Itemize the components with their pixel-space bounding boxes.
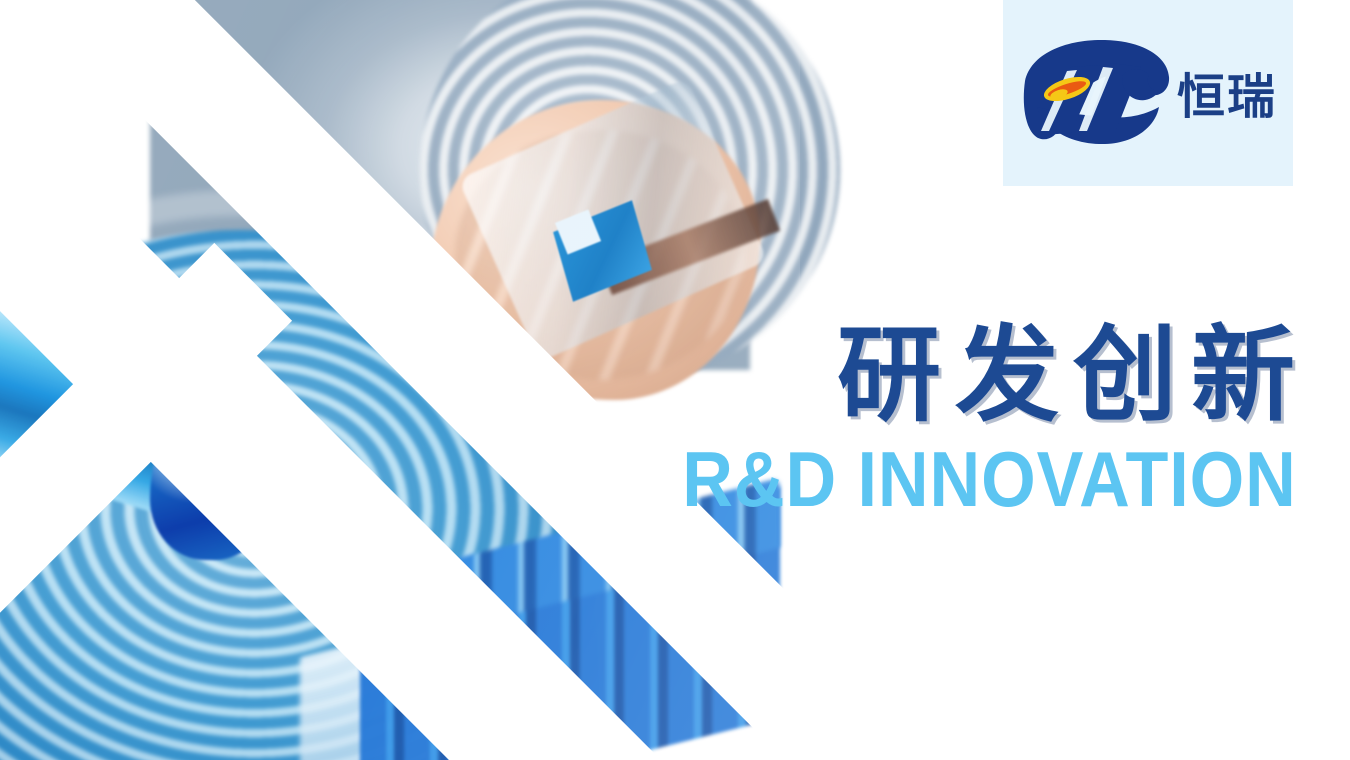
headline-chinese: 研发创新 [614,322,1309,428]
company-logo-panel[interactable]: 恒瑞 [1003,0,1293,186]
rd-innovation-banner: 恒瑞 研发创新 R&D INNOVATION [0,0,1350,760]
headline-block: 研发创新 R&D INNOVATION [614,322,1295,516]
logo-inner: 恒瑞 [1019,33,1277,153]
logo-company-name: 恒瑞 [1177,73,1277,121]
hengrui-emblem-icon [1019,37,1171,149]
headline-english: R&D INNOVATION [683,444,1297,516]
